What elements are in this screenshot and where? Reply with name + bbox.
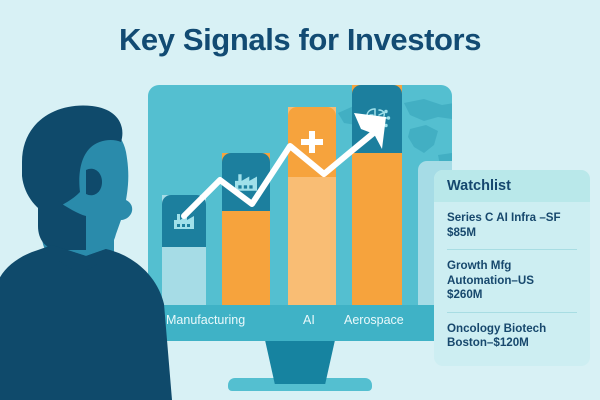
- list-item[interactable]: Series C AI Infra –SF $85M: [447, 202, 577, 250]
- watchlist-panel[interactable]: Watchlist Series C AI Infra –SF $85M Gro…: [434, 170, 590, 366]
- axis-label-manufacturing: Manufacturing: [166, 313, 245, 327]
- infographic-canvas: Key Signals for Investors: [0, 0, 600, 400]
- page-title: Key Signals for Investors: [0, 22, 600, 58]
- monitor-stand-neck: [265, 340, 335, 384]
- watchlist-header: Watchlist: [434, 170, 590, 202]
- watchlist-item-line3: $260M: [447, 288, 577, 303]
- watchlist-item-line1: Series C AI Infra –SF: [447, 211, 577, 226]
- monitor-screen: Manufacturing AI Aerospace: [148, 85, 452, 341]
- trend-arrow-icon: [148, 85, 452, 341]
- list-item[interactable]: Oncology Biotech Boston–$120M: [447, 313, 577, 360]
- watchlist-title: Watchlist: [447, 178, 511, 194]
- axis-label-aerospace: Aerospace: [344, 313, 404, 327]
- list-item[interactable]: Growth Mfg Automation–US $260M: [447, 250, 577, 313]
- axis-label-ai: AI: [303, 313, 315, 327]
- watchlist-item-line2: Boston–$120M: [447, 336, 577, 351]
- watchlist-item-line1: Growth Mfg: [447, 259, 577, 274]
- watchlist-item-line2: Automation–US: [447, 274, 577, 289]
- watchlist-item-line2: $85M: [447, 226, 577, 241]
- watchlist-body: Series C AI Infra –SF $85M Growth Mfg Au…: [434, 202, 590, 360]
- investor-silhouette: [0, 104, 172, 400]
- watchlist-item-line1: Oncology Biotech: [447, 322, 577, 337]
